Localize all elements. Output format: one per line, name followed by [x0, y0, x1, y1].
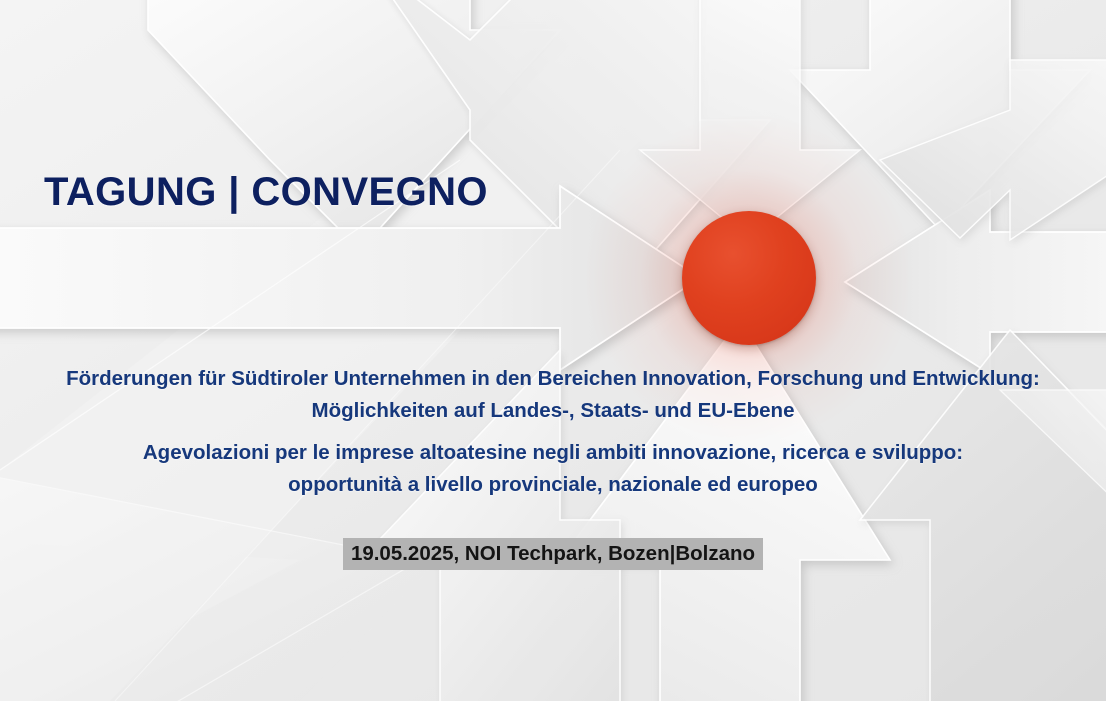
subtitle-german-line-2: Möglichkeiten auf Landes-, Staats- und E…	[0, 395, 1106, 427]
event-details-bar: 19.05.2025, NOI Techpark, Bozen|Bolzano	[0, 538, 1106, 570]
subtitle-german: Förderungen für Südtiroler Unternehmen i…	[0, 363, 1106, 427]
conference-poster: TAGUNG | CONVEGNO Förderungen für Südtir…	[0, 0, 1106, 701]
subtitle-german-line-1: Förderungen für Südtiroler Unternehmen i…	[0, 363, 1106, 395]
event-date-venue: 19.05.2025, NOI Techpark, Bozen|Bolzano	[343, 538, 763, 570]
subtitle-italian-line-1: Agevolazioni per le imprese altoatesine …	[0, 437, 1106, 469]
subtitle-italian-line-2: opportunità a livello provinciale, nazio…	[0, 469, 1106, 501]
subtitle-italian: Agevolazioni per le imprese altoatesine …	[0, 437, 1106, 501]
page-title: TAGUNG | CONVEGNO	[44, 170, 488, 215]
